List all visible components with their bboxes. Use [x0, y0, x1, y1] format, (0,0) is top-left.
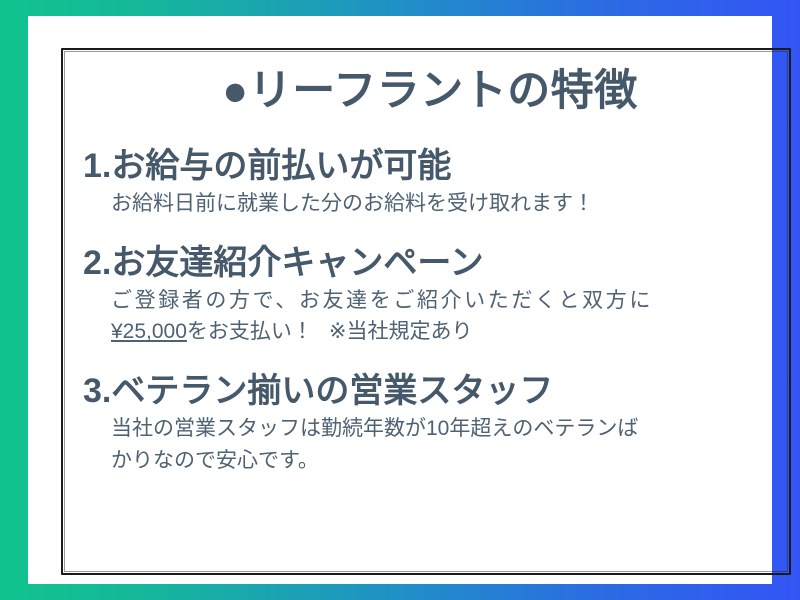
page-title: ●リーフラントの特徴: [83, 70, 777, 113]
referral-amount-suffix: をお支払い！: [187, 320, 313, 343]
feature-item-2: 2.お友達紹介キャンペーン ご登録者の方で、お友達をご紹介いただくと双方に ¥2…: [83, 244, 777, 347]
feature-3-body: 当社の営業スタッフは勤続年数が10年超えのベテランば かりなので安心です。: [83, 413, 777, 475]
feature-2-body-line-2: ¥25,000をお支払い！※当社規定あり: [111, 316, 777, 347]
feature-1-heading: 1.お給与の前払いが可能: [83, 147, 777, 185]
referral-note: ※当社規定あり: [329, 320, 473, 343]
feature-1-body-line-1: お給料日前に就業した分のお給料を受け取れます！: [111, 188, 777, 219]
feature-item-3: 3.ベテラン揃いの営業スタッフ 当社の営業スタッフは勤続年数が10年超えのベテラ…: [83, 372, 777, 475]
slide-root: ●リーフラントの特徴 1.お給与の前払いが可能 お給料日前に就業した分のお給料を…: [0, 0, 800, 600]
feature-1-body: お給料日前に就業した分のお給料を受け取れます！: [83, 188, 777, 219]
feature-3-body-line-1: 当社の営業スタッフは勤続年数が10年超えのベテランば: [111, 413, 777, 444]
feature-2-heading: 2.お友達紹介キャンペーン: [83, 244, 777, 282]
feature-item-1: 1.お給与の前払いが可能 お給料日前に就業した分のお給料を受け取れます！: [83, 147, 777, 219]
feature-3-heading: 3.ベテラン揃いの営業スタッフ: [83, 372, 777, 410]
feature-2-body-line-1: ご登録者の方で、お友達をご紹介いただくと双方に: [111, 285, 777, 316]
feature-2-body: ご登録者の方で、お友達をご紹介いただくと双方に ¥25,000をお支払い！※当社…: [83, 285, 777, 347]
white-card: ●リーフラントの特徴 1.お給与の前払いが可能 お給料日前に就業した分のお給料を…: [28, 16, 772, 584]
slide-content: ●リーフラントの特徴 1.お給与の前払いが可能 お給料日前に就業した分のお給料を…: [61, 48, 791, 575]
referral-amount: ¥25,000: [111, 320, 187, 343]
feature-3-body-line-2: かりなので安心です。: [111, 445, 777, 476]
